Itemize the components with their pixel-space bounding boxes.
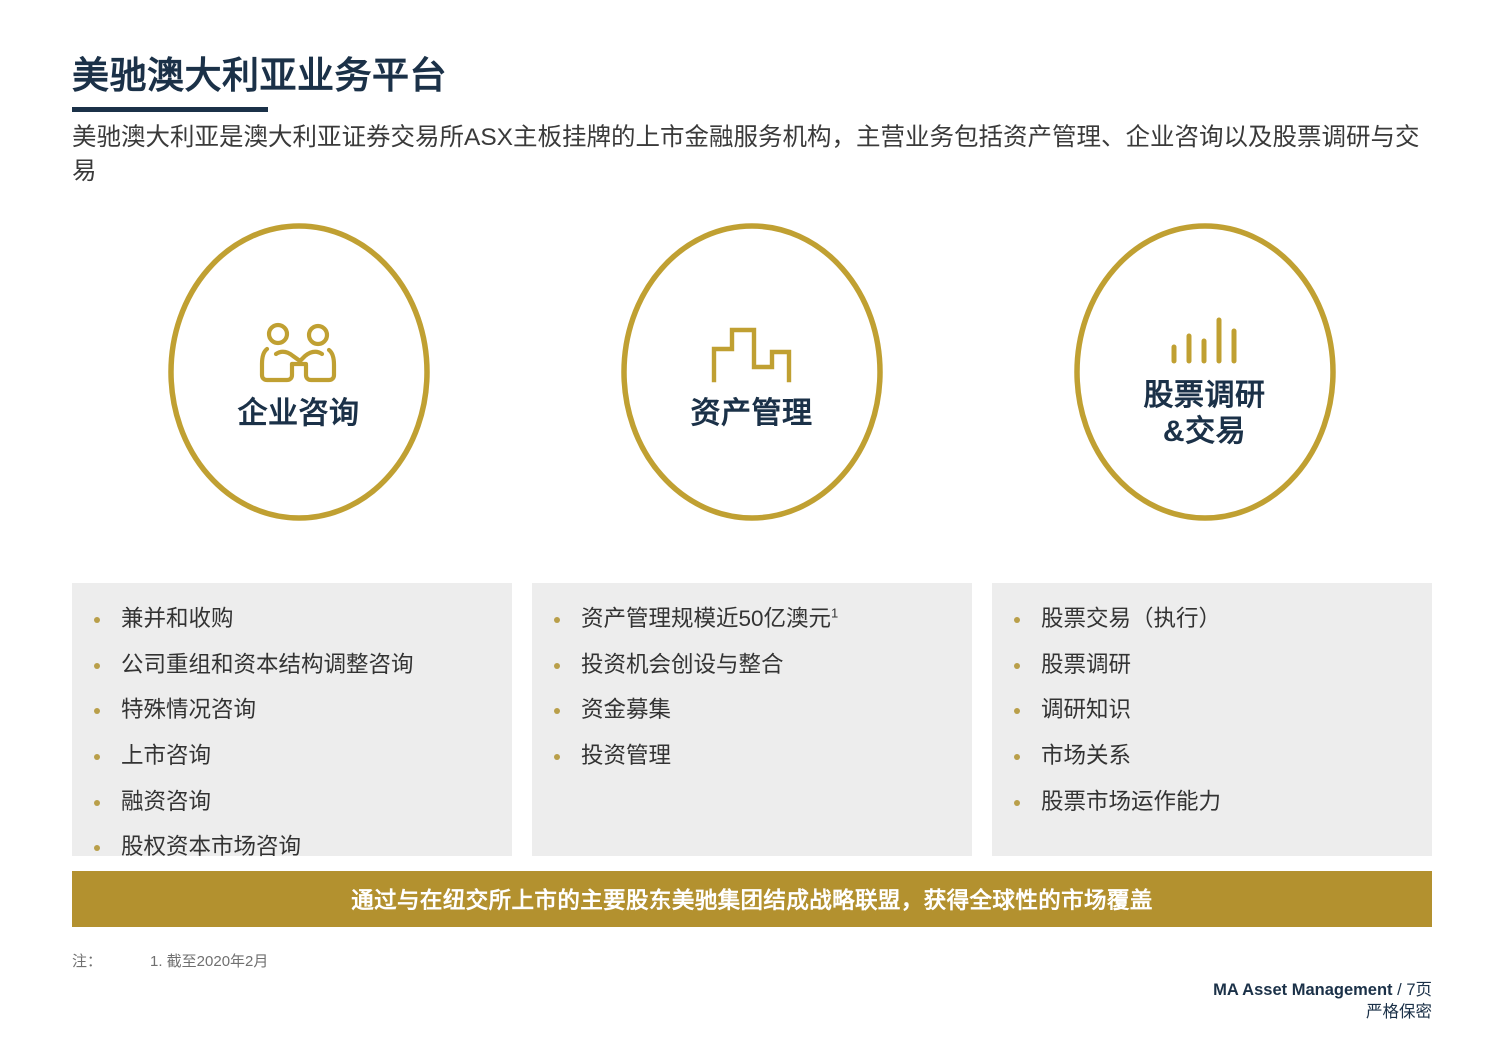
list-item: 股权资本市场咨询 — [94, 831, 486, 864]
bullet-text: 投资机会创设与整合 — [581, 649, 784, 682]
title-underline-rule — [72, 107, 268, 112]
bullet-dot-icon — [94, 617, 100, 623]
bullet-text: 特殊情况咨询 — [121, 694, 256, 727]
bullet-dot-icon — [94, 800, 100, 806]
bullet-dot-icon — [554, 663, 560, 669]
bullet-text: 市场关系 — [1041, 740, 1131, 773]
footnote-label: 注： — [72, 950, 150, 971]
bullet-text: 资金募集 — [581, 694, 671, 727]
list-item: 上市咨询 — [94, 740, 486, 773]
bullet-text: 资产管理规模近50亿澳元1 — [581, 603, 838, 636]
footnote: 注： 1. 截至2020年2月 — [72, 950, 268, 971]
bullet-panel-equities-research-trading: 股票交易（执行） 股票调研 调研知识 市场关系 股票市场运作能力 — [992, 583, 1432, 856]
footer-brand: MA Asset Management — [1213, 981, 1392, 999]
bullet-text: 股票市场运作能力 — [1041, 786, 1221, 819]
bullet-dot-icon — [554, 754, 560, 760]
footnote-text: 1. 截至2020年2月 — [150, 950, 268, 971]
bullet-text: 兼并和收购 — [121, 603, 234, 636]
bullet-text: 股权资本市场咨询 — [121, 831, 301, 864]
bullet-dot-icon — [1014, 708, 1020, 714]
list-item: 调研知识 — [1014, 694, 1406, 727]
pillar-label: 企业咨询 — [238, 396, 360, 432]
pillar-circle-asset-management: 资产管理 — [525, 222, 978, 542]
list-item: 股票交易（执行） — [1014, 603, 1406, 636]
list-item: 资金募集 — [554, 694, 946, 727]
bullet-text: 调研知识 — [1041, 694, 1131, 727]
bullet-dot-icon — [1014, 800, 1020, 806]
bullet-text: 融资咨询 — [121, 786, 211, 819]
bar-chart-icon — [1168, 288, 1242, 366]
list-item: 兼并和收购 — [94, 603, 486, 636]
bullet-dot-icon — [94, 845, 100, 851]
bullet-dot-icon — [1014, 754, 1020, 760]
footer-page-number: / 7页 — [1393, 981, 1432, 999]
bullet-text: 股票交易（执行） — [1041, 603, 1221, 636]
pillar-circle-corporate-advisory: 企业咨询 — [72, 222, 525, 542]
list-item: 股票调研 — [1014, 649, 1406, 682]
presentation-slide: 美驰澳大利亚业务平台 美驰澳大利亚是澳大利亚证券交易所ASX主板挂牌的上市金融服… — [0, 0, 1500, 1038]
footer-confidentiality-notice: 严格保密 — [1213, 1001, 1432, 1023]
footnote-marker: 1 — [831, 606, 838, 621]
bullet-dot-icon — [94, 754, 100, 760]
pillar-label: 资产管理 — [691, 396, 813, 432]
list-item: 特殊情况咨询 — [94, 694, 486, 727]
slide-header: 美驰澳大利亚业务平台 美驰澳大利亚是澳大利亚证券交易所ASX主板挂牌的上市金融服… — [72, 55, 1432, 190]
handshake-icon — [256, 306, 342, 384]
list-item: 资产管理规模近50亿澳元1 — [554, 603, 946, 636]
list-item: 股票市场运作能力 — [1014, 786, 1406, 819]
slide-footer: MA Asset Management / 7页 严格保密 — [1213, 979, 1432, 1024]
pillar-circles-row: 企业咨询 资产管理 — [72, 222, 1432, 542]
slide-subtitle: 美驰澳大利亚是澳大利亚证券交易所ASX主板挂牌的上市金融服务机构，主营业务包括资… — [72, 121, 1432, 191]
bullet-text: 投资管理 — [581, 740, 671, 773]
bullet-panel-corporate-advisory: 兼并和收购 公司重组和资本结构调整咨询 特殊情况咨询 上市咨询 融资咨询 股权资… — [72, 583, 512, 856]
list-item: 公司重组和资本结构调整咨询 — [94, 649, 486, 682]
page-title: 美驰澳大利亚业务平台 — [72, 55, 1432, 98]
pillar-label: 股票调研 &交易 — [1144, 378, 1266, 450]
bullet-dot-icon — [94, 708, 100, 714]
pillar-detail-panels: 兼并和收购 公司重组和资本结构调整咨询 特殊情况咨询 上市咨询 融资咨询 股权资… — [72, 583, 1432, 856]
list-item: 投资机会创设与整合 — [554, 649, 946, 682]
strategic-alliance-banner: 通过与在纽交所上市的主要股东美驰集团结成战略联盟，获得全球性的市场覆盖 — [72, 871, 1432, 927]
bullet-dot-icon — [1014, 617, 1020, 623]
bullet-dot-icon — [1014, 663, 1020, 669]
bullet-text: 股票调研 — [1041, 649, 1131, 682]
bullet-text: 上市咨询 — [121, 740, 211, 773]
list-item: 融资咨询 — [94, 786, 486, 819]
bullet-dot-icon — [554, 708, 560, 714]
bullet-dot-icon — [94, 663, 100, 669]
bullet-text: 公司重组和资本结构调整咨询 — [121, 649, 414, 682]
pillar-circle-equities-research-trading: 股票调研 &交易 — [978, 222, 1431, 542]
list-item: 市场关系 — [1014, 740, 1406, 773]
bullet-dot-icon — [554, 617, 560, 623]
bullet-panel-asset-management: 资产管理规模近50亿澳元1 投资机会创设与整合 资金募集 投资管理 — [532, 583, 972, 856]
buildings-icon — [710, 306, 794, 384]
banner-text: 通过与在纽交所上市的主要股东美驰集团结成战略联盟，获得全球性的市场覆盖 — [351, 883, 1153, 915]
list-item: 投资管理 — [554, 740, 946, 773]
